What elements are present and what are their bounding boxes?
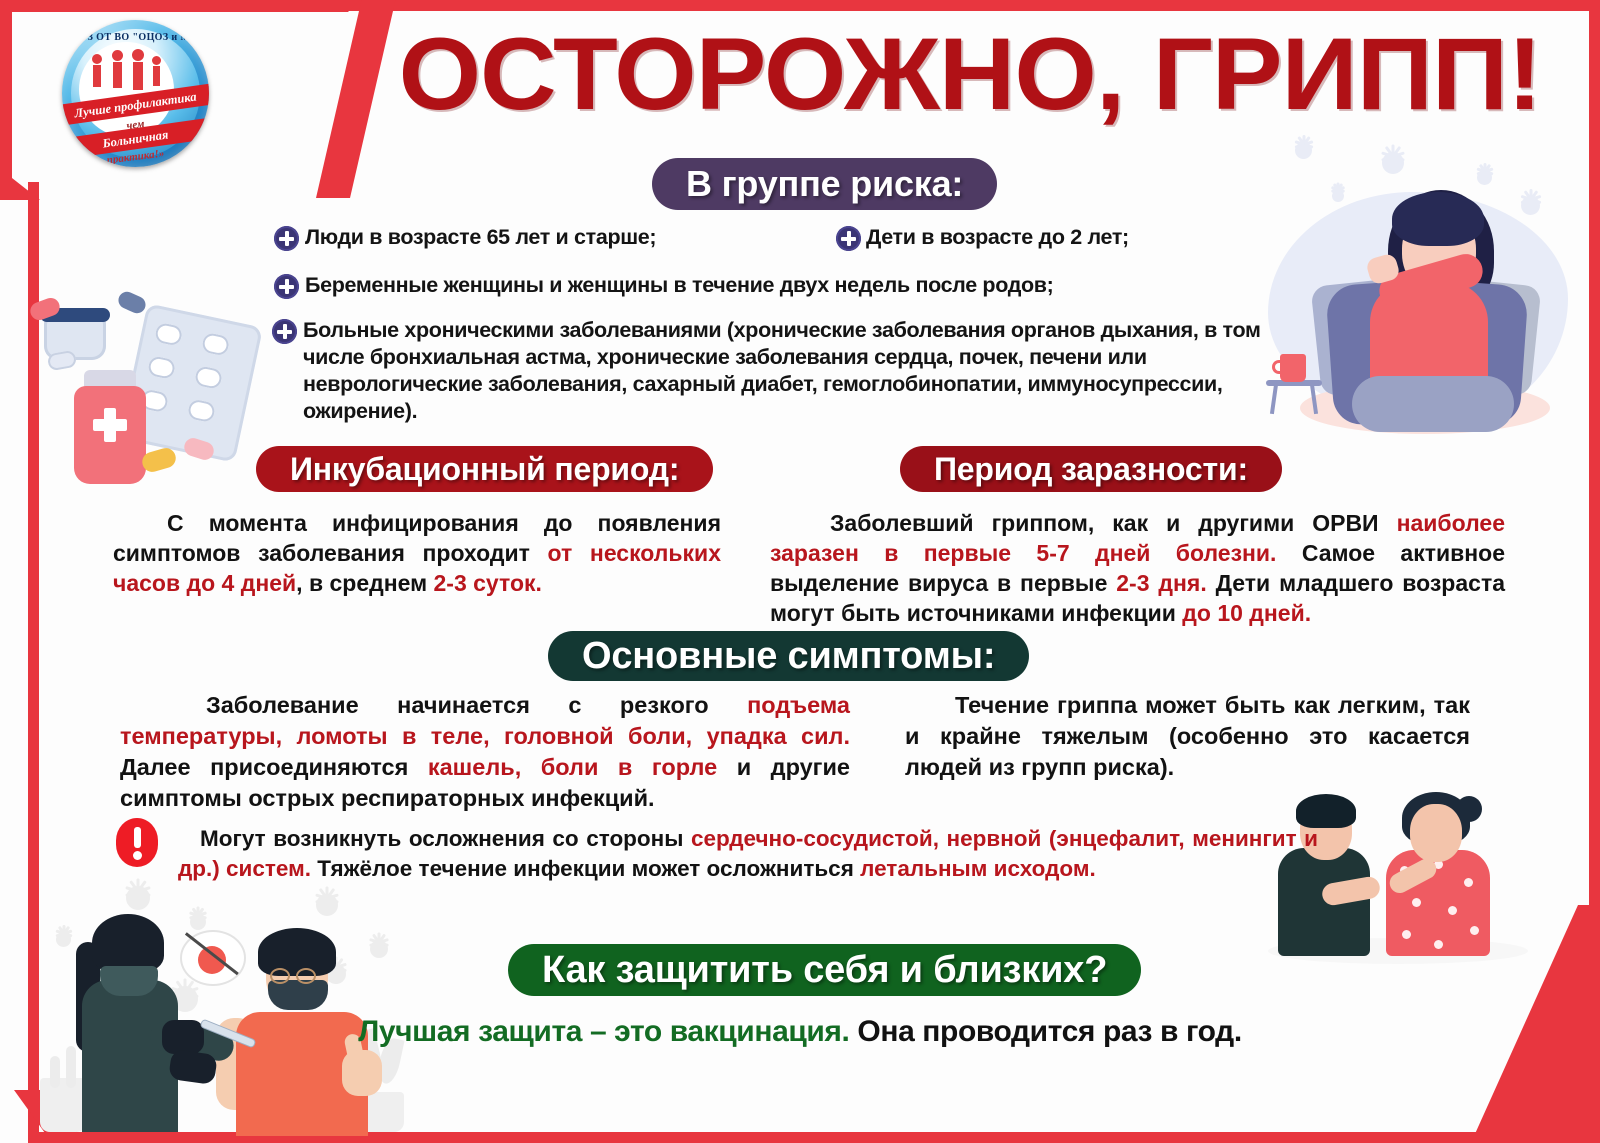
virus-glyph-icon [56, 932, 71, 947]
virus-glyph-icon [190, 914, 206, 930]
medicines-illustration [22, 290, 272, 500]
risk-item-3: Беременные женщины и женщины в течение д… [305, 272, 1053, 299]
section-heading-risk-group: В группе риска: [652, 158, 997, 210]
sick-woman-illustration [1260, 132, 1582, 454]
logo-arc-text: ГБУЗ ОТ ВО "ОЦОЗ и МП" [62, 32, 209, 43]
risk-item-4: Больные хроническими заболеваниями (хрон… [303, 317, 1263, 425]
frame-top-border [340, 0, 1600, 11]
page-title: ОСТОРОЖНО, ГРИПП! [336, 18, 1600, 130]
risk-item-1: Люди в возрасте 65 лет и старше; [305, 224, 656, 251]
risk-item-2: Дети в возрасте до 2 лет; [866, 224, 1129, 251]
plus-bullet-icon [272, 319, 297, 344]
contagious-paragraph: Заболевший гриппом, как и другими ОРВИ н… [770, 508, 1505, 628]
complications-warning-paragraph: Могут возникнуть осложнения со стороны с… [178, 824, 1318, 884]
section-heading-how-to-protect: Как защитить себя и близких? [508, 944, 1141, 996]
flu-awareness-poster: ГБУЗ ОТ ВО "ОЦОЗ и МП" Лучше профилактик… [0, 0, 1600, 1143]
virus-glyph-icon [126, 886, 150, 910]
cross-symbol-horizontal [93, 419, 127, 431]
vaccination-statement: Лучшая защита – это вакцинация. Она пров… [100, 1012, 1500, 1052]
symptoms-paragraph-right: Течение гриппа может быть как легким, та… [905, 690, 1470, 783]
plus-bullet-icon [274, 274, 299, 299]
section-heading-incubation-period: Инкубационный период: [256, 446, 713, 492]
virus-glyph-icon [316, 894, 338, 916]
section-heading-main-symptoms: Основные симптомы: [548, 631, 1029, 681]
virus-glyph-icon [370, 940, 388, 958]
plus-bullet-icon [836, 226, 861, 251]
incubation-paragraph: С момента инфицирования до появления сим… [113, 508, 721, 598]
plus-bullet-icon [274, 226, 299, 251]
organization-logo: ГБУЗ ОТ ВО "ОЦОЗ и МП" Лучше профилактик… [62, 20, 209, 167]
symptoms-paragraph-left: Заболевание начинается с резкого подъема… [120, 690, 850, 814]
vaccination-illustration [40, 880, 410, 1135]
section-heading-contagious-period: Период заразности: [900, 446, 1282, 492]
exclamation-icon [116, 818, 158, 867]
